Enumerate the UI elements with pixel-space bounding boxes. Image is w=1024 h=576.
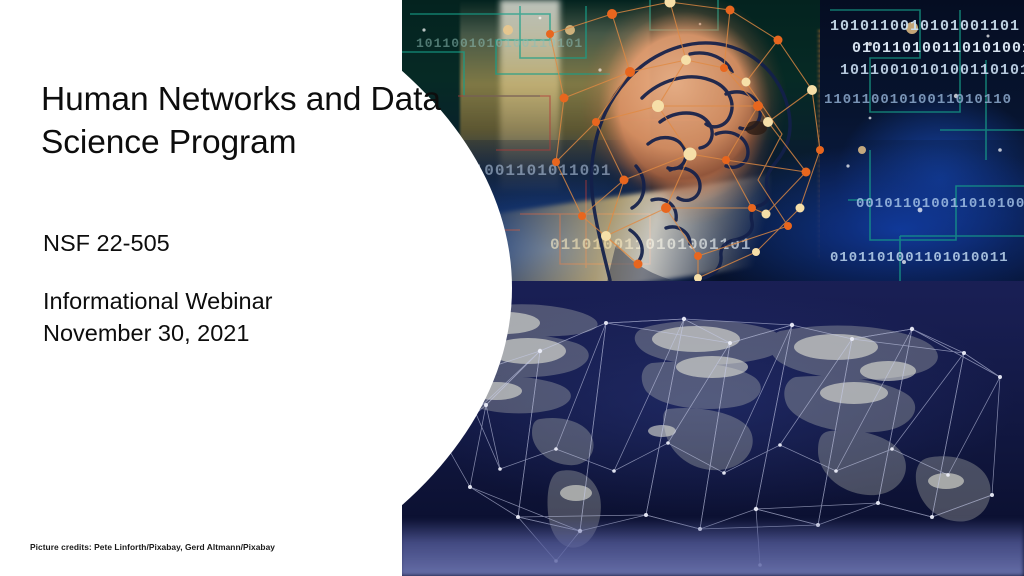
page-title: Human Networks and Data Science Program — [41, 79, 441, 164]
event-type: Informational Webinar — [43, 286, 413, 317]
presentation-slide: 1010110010101001101 01011010011010100101… — [0, 0, 1024, 576]
event-date: November 30, 2021 — [43, 318, 413, 349]
title-line-1: Human Networks and Data — [41, 81, 441, 118]
solicitation-number: NSF 22-505 — [43, 228, 413, 259]
text-content: Human Networks and Data Science Program … — [0, 0, 1024, 576]
picture-credits: Picture credits: Pete Linforth/Pixabay, … — [30, 542, 275, 552]
subtitle-spacer — [43, 259, 413, 286]
title-line-2: Science Program — [41, 124, 296, 161]
subtitle-block: NSF 22-505 Informational Webinar Novembe… — [43, 228, 413, 349]
